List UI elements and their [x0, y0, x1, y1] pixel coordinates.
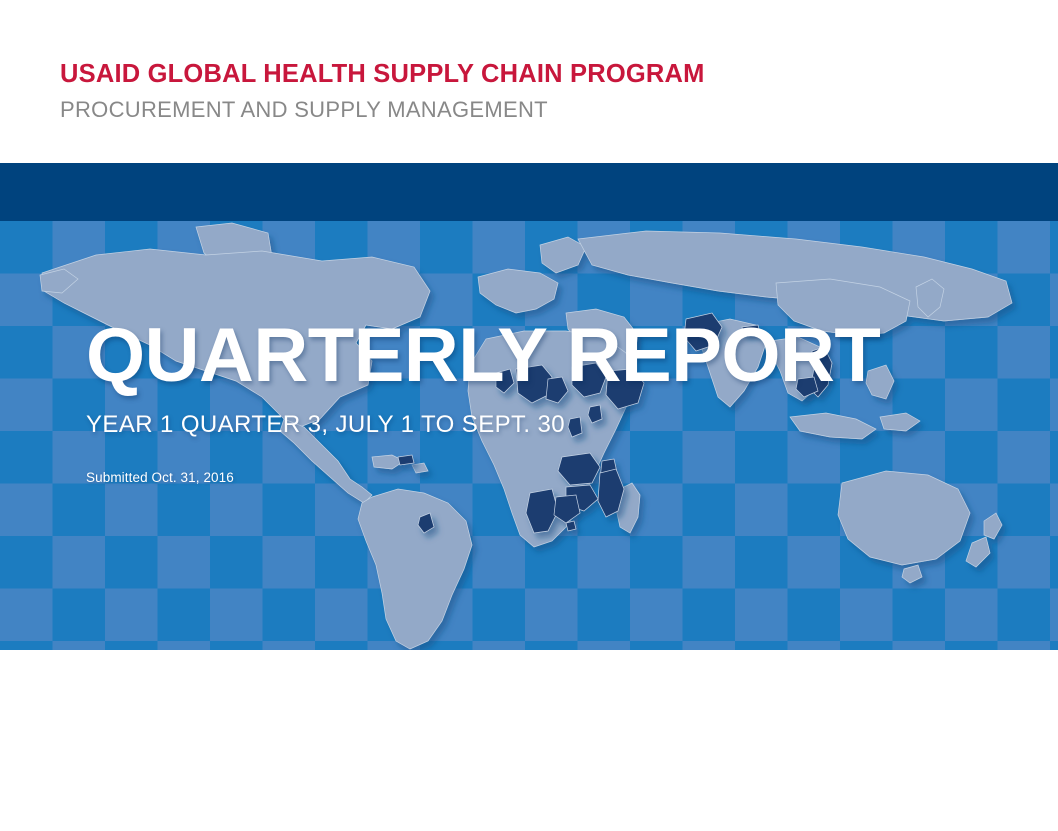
- hero-world-map-section: QUARTERLY REPORT YEAR 1 QUARTER 3, JULY …: [0, 221, 1058, 650]
- report-period-subtitle: YEAR 1 QUARTER 3, JULY 1 TO SEPT. 30: [86, 411, 880, 439]
- program-subtitle: PROCUREMENT AND SUPPLY MANAGEMENT: [60, 99, 705, 121]
- report-title: QUARTERLY REPORT: [86, 321, 880, 391]
- submitted-date: Submitted Oct. 31, 2016: [86, 470, 880, 485]
- hero-text-block: QUARTERLY REPORT YEAR 1 QUARTER 3, JULY …: [86, 321, 880, 485]
- footer-logo-row: UNITED STATES OF INTERNATIONAL DEVELOPME…: [0, 650, 1058, 831]
- program-title: USAID GLOBAL HEALTH SUPPLY CHAIN PROGRAM: [60, 62, 705, 88]
- navy-divider-banner: [0, 163, 1058, 221]
- report-cover-page: USAID GLOBAL HEALTH SUPPLY CHAIN PROGRAM…: [0, 0, 1058, 831]
- program-header: USAID GLOBAL HEALTH SUPPLY CHAIN PROGRAM…: [60, 62, 705, 121]
